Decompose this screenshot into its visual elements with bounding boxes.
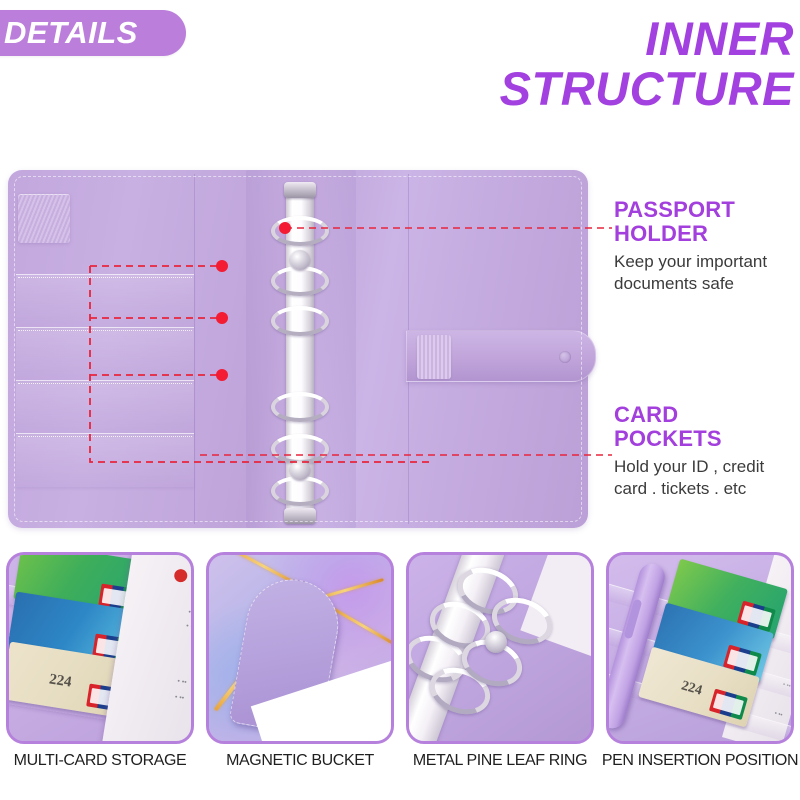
annotation-title: PASSPORT HOLDER — [614, 198, 800, 246]
binder-ring-2 — [271, 266, 329, 296]
ring-cap-top — [284, 182, 316, 198]
ring-cap-bottom — [284, 508, 316, 524]
thumbnail-caption-3: METAL PINE LEAF RING — [400, 752, 600, 770]
binder-planner — [8, 170, 588, 528]
annotation-desc-line-1: Hold your ID , credit — [614, 457, 764, 476]
thumbnail-magnetic-bucket — [206, 552, 394, 744]
card-pocket-2 — [16, 327, 194, 381]
magnetic-closure-flap — [406, 330, 596, 382]
binder-ring-6 — [271, 476, 329, 506]
annotation-desc-line-2: documents safe — [614, 274, 734, 293]
annotation-desc-line-1: Keep your important — [614, 252, 767, 271]
magnet-snap — [559, 351, 571, 363]
annotation-card-pockets: CARD POCKETS Hold your ID , credit card … — [614, 403, 800, 500]
red-seal-icon — [173, 568, 188, 583]
annotation-desc-line-2: card . tickets . etc — [614, 479, 746, 498]
details-badge-label: DETAILS — [4, 16, 138, 50]
annotation-title-line-1: CARD — [614, 402, 678, 427]
annotation-title-line-1: PASSPORT — [614, 197, 735, 222]
annotation-title-line-2: POCKETS — [614, 426, 722, 451]
ring-screw-top — [290, 250, 310, 270]
annotation-passport-holder: PASSPORT HOLDER Keep your important docu… — [614, 198, 800, 295]
ring-screw-bottom — [290, 460, 310, 480]
binder-ring-1 — [271, 216, 329, 246]
thumbnail-caption-1: MULTI-CARD STORAGE — [0, 752, 200, 770]
card-number: 224 — [48, 671, 73, 691]
elastic-pen-loop-right — [417, 335, 451, 379]
card-pockets-group — [16, 274, 194, 486]
annotation-description: Hold your ID , credit card . tickets . e… — [614, 456, 800, 500]
card-pocket-1 — [16, 274, 194, 328]
page-title: INNER STRUCTURE — [234, 14, 794, 114]
feature-thumbnail-row: 224 • •• • •• • •• • •• — [0, 552, 800, 800]
details-badge: DETAILS — [0, 10, 186, 56]
thumbnail-multi-card-storage: 224 • •• • •• • •• • •• — [6, 552, 194, 744]
thumbnail-caption-2: MAGNETIC BUCKET — [200, 752, 400, 770]
card-pocket-3 — [16, 380, 194, 434]
page-title-line-1: INNER — [645, 12, 794, 65]
card-pocket-4 — [16, 433, 194, 487]
annotation-title: CARD POCKETS — [614, 403, 800, 451]
product-detail-page: DETAILS INNER STRUCTURE — [0, 0, 800, 800]
thumbnail-metal-pine-leaf-ring — [406, 552, 594, 744]
elastic-pen-loop-left — [18, 194, 70, 243]
thumbnail-caption-4: PEN INSERTION POSITION — [600, 752, 800, 770]
binder-ring-3 — [271, 306, 329, 336]
fold-line-left — [194, 174, 195, 524]
binder-ring-4 — [271, 392, 329, 422]
annotation-title-line-2: HOLDER — [614, 221, 708, 246]
page-title-line-2: STRUCTURE — [234, 64, 794, 114]
unionpay-logo-icon — [709, 689, 748, 720]
thumbnail-pen-insertion-position: • •• • •• • •• 224 — [606, 552, 794, 744]
annotation-description: Keep your important documents safe — [614, 251, 800, 295]
six-ring-mechanism — [264, 188, 336, 518]
